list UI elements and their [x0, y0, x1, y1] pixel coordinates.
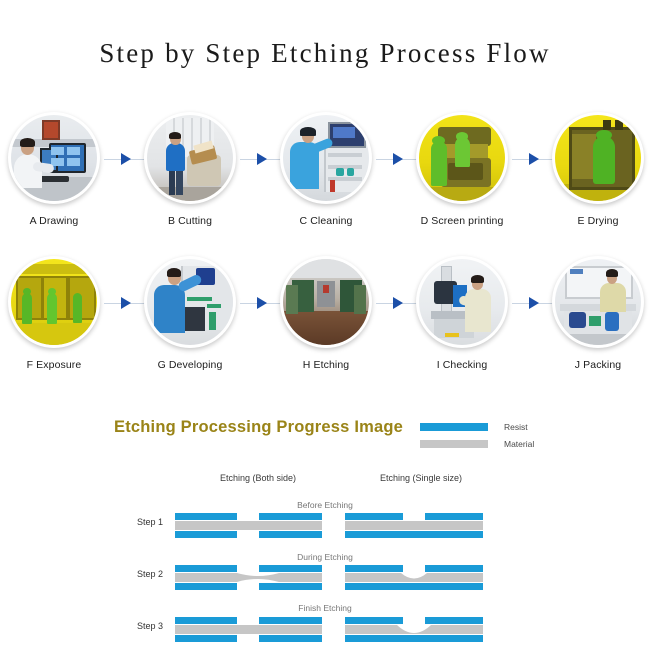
phase-label-finish: Finish Etching [0, 603, 650, 613]
process-flow-row-2: F Exposure G Developing H Etching [0, 256, 650, 386]
flow-step-h-label: H Etching [276, 359, 376, 371]
flow-step-a-photo [8, 112, 100, 204]
flow-step-g-label: G Developing [140, 359, 240, 371]
process-flow-row-1: A Drawing B Cutting C Cle [0, 112, 650, 242]
flow-step-b-photo [144, 112, 236, 204]
flow-step-h-photo [280, 256, 372, 348]
flow-step-d-photo [416, 112, 508, 204]
flow-step-f-label: F Exposure [4, 359, 104, 371]
flow-step-f-photo [8, 256, 100, 348]
step-label-2: Step 2 [137, 569, 163, 579]
step1-both-side [175, 513, 322, 538]
flow-step-h[interactable]: H Etching [276, 256, 376, 371]
page-title: Step by Step Etching Process Flow [0, 38, 650, 69]
flow-step-b-label: B Cutting [140, 215, 240, 227]
phase-label-during: During Etching [0, 552, 650, 562]
legend: Resist Material [420, 420, 600, 454]
flow-step-a-label: A Drawing [4, 215, 104, 227]
flow-step-d[interactable]: D Screen printing [412, 112, 512, 227]
flow-step-j-label: J Packing [548, 359, 648, 371]
legend-item-material: Material [420, 437, 600, 450]
flow-step-c-label: C Cleaning [276, 215, 376, 227]
legend-item-resist: Resist [420, 420, 600, 433]
flow-step-j[interactable]: J Packing [548, 256, 648, 371]
step2-both-side [175, 565, 322, 590]
step-label-3: Step 3 [137, 621, 163, 631]
flow-step-i-photo [416, 256, 508, 348]
legend-label-resist: Resist [504, 422, 528, 432]
legend-swatch-resist [420, 423, 488, 431]
step3-both-side [175, 617, 322, 642]
phase-label-before: Before Etching [0, 500, 650, 510]
flow-step-c[interactable]: C Cleaning [276, 112, 376, 227]
flow-step-g-photo [144, 256, 236, 348]
legend-label-material: Material [504, 439, 534, 449]
flow-step-b[interactable]: B Cutting [140, 112, 240, 227]
progress-heading: Etching Processing Progress Image [114, 418, 403, 437]
flow-step-a[interactable]: A Drawing [4, 112, 104, 227]
flow-step-d-label: D Screen printing [412, 215, 512, 227]
legend-swatch-material [420, 440, 488, 448]
column-header-both-side: Etching (Both side) [220, 473, 296, 483]
flow-step-i[interactable]: I Checking [412, 256, 512, 371]
step2-single-side [345, 565, 483, 590]
flow-step-g[interactable]: G Developing [140, 256, 240, 371]
flow-step-j-photo [552, 256, 644, 348]
flow-step-e-photo [552, 112, 644, 204]
step1-single-side [345, 513, 483, 538]
step-label-1: Step 1 [137, 517, 163, 527]
flow-step-e-label: E Drying [548, 215, 648, 227]
flow-step-c-photo [280, 112, 372, 204]
flow-step-f[interactable]: F Exposure [4, 256, 104, 371]
flow-step-e[interactable]: E Drying [548, 112, 648, 227]
flow-step-i-label: I Checking [412, 359, 512, 371]
column-header-single-side: Etching (Single size) [380, 473, 462, 483]
step3-single-side [345, 617, 483, 642]
